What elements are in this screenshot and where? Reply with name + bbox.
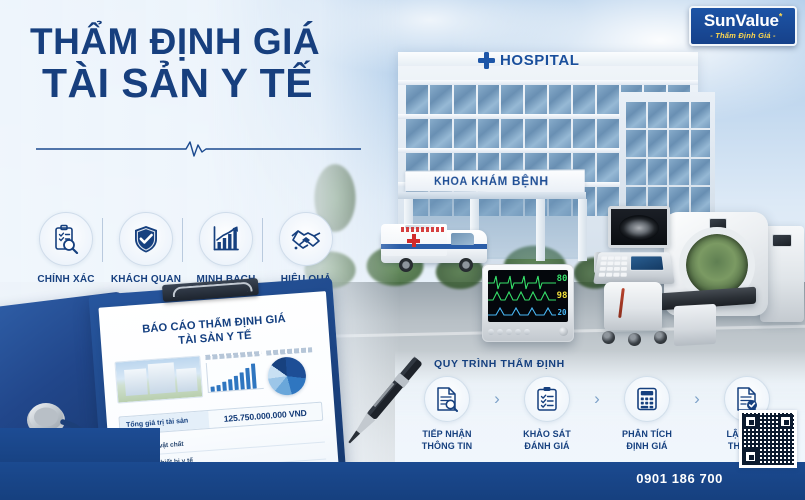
- patient-monitor: 80 98 20: [482, 264, 574, 342]
- shield-check-icon: [131, 224, 161, 254]
- process-step-label: KHẢO SÁT ĐÁNH GIÁ: [523, 429, 571, 453]
- patient-monitor-screen: 80 98 20: [488, 270, 568, 322]
- monitor-spo2-value: 98: [557, 292, 568, 301]
- ultrasound-display: [608, 206, 670, 248]
- contact-phone[interactable]: 0901 186 700: [636, 471, 723, 486]
- bar-chart-growth-icon: [211, 224, 241, 254]
- brand-logo[interactable]: SunValue* - Thẩm Định Giá -: [689, 6, 797, 46]
- feature-chinh-xac[interactable]: CHÍNH XÁC: [26, 212, 106, 285]
- hospital-rooftop-sign: HOSPITAL: [478, 52, 580, 69]
- process-step-label-line-1: TIẾP NHẬN: [422, 429, 472, 441]
- monitor-hr-value: 80: [557, 275, 568, 284]
- department-sign-text: KHOA KHÁM BỆNH: [434, 175, 549, 188]
- document-verified-icon: [734, 386, 760, 412]
- department-sign: KHOA KHÁM BỆNH: [405, 169, 584, 193]
- hospital-sign-text: HOSPITAL: [500, 52, 580, 69]
- process-step-label-line-1: PHÂN TÍCH: [622, 429, 672, 441]
- ultrasound-machine: [586, 206, 678, 346]
- report-pie-chart-caption: [266, 347, 312, 355]
- logo-word-sun: Sun: [704, 11, 736, 30]
- ambulance-red-cross-icon: [407, 234, 420, 247]
- calculator-icon: [634, 386, 660, 412]
- report-bar-chart: [205, 351, 264, 393]
- process-step-label: TIẾP NHẬN THÔNG TIN: [422, 429, 472, 453]
- report-building-photo: [114, 355, 203, 403]
- headline-line-2: TÀI SẢN Y TẾ: [42, 61, 390, 105]
- document-search-icon: [434, 386, 460, 412]
- feature-badges: CHÍNH XÁC KHÁCH QUAN: [26, 212, 376, 285]
- feature-icon-wrap: [279, 212, 333, 266]
- feature-hieu-qua[interactable]: HIỆU QUẢ: [266, 212, 346, 285]
- process-step-khao-sat-danh-gia[interactable]: KHẢO SÁT ĐÁNH GIÁ: [508, 376, 586, 453]
- report-pie-chart: [266, 347, 315, 396]
- monitor-resp-value: 20: [557, 309, 566, 317]
- feature-label: CHÍNH XÁC: [37, 274, 94, 285]
- heartbeat-divider: [36, 140, 361, 158]
- logo-word-value: Value: [735, 11, 778, 30]
- pie-series: [267, 356, 308, 397]
- logo-star-icon: *: [779, 11, 782, 21]
- chevron-right-icon: ›: [586, 376, 608, 422]
- process-step-tiep-nhan-thong-tin[interactable]: TIẾP NHẬN THÔNG TIN: [408, 376, 486, 453]
- report-media-row: [114, 347, 321, 408]
- process-step-label-line-1: KHẢO SÁT: [523, 429, 571, 441]
- bar-series: [206, 359, 264, 393]
- entrance-canopy: [398, 192, 586, 199]
- process-step-icon-wrap: [624, 376, 670, 422]
- poster-canvas: HOSPITAL KHOA KHÁM BỆNH: [0, 0, 805, 500]
- process-step-label-line-2: ĐỊNH GIÁ: [622, 441, 672, 453]
- process-step-icon-wrap: [424, 376, 470, 422]
- qr-code[interactable]: [739, 410, 797, 468]
- feature-minh-bach[interactable]: MINH BẠCH: [186, 212, 266, 285]
- process-step-label-line-2: ĐÁNH GIÁ: [523, 441, 571, 453]
- feature-icon-wrap: [199, 212, 253, 266]
- headline-line-1: THẨM ĐỊNH GIÁ: [30, 22, 390, 61]
- chevron-right-icon: ›: [486, 376, 508, 422]
- clipboard-search-icon: [51, 224, 81, 254]
- feature-icon-wrap: [119, 212, 173, 266]
- ct-scanner: [660, 212, 805, 346]
- report-title: BÁO CÁO THẨM ĐỊNH GIÁ TÀI SẢN Y TẾ: [112, 310, 318, 353]
- handshake-icon: [290, 224, 322, 254]
- process-step-label-line-2: THÔNG TIN: [422, 441, 472, 453]
- qr-code-icon: [742, 413, 794, 465]
- process-step-label: PHÂN TÍCH ĐỊNH GIÁ: [622, 429, 672, 453]
- clipboard-check-icon: [534, 386, 560, 412]
- entrance-pillar: [536, 199, 545, 261]
- report-total-value: 125.750.000.000 VND: [208, 403, 322, 428]
- page-title: THẨM ĐỊNH GIÁ TÀI SẢN Y TẾ: [30, 22, 390, 105]
- feature-icon-wrap: [39, 212, 93, 266]
- process-step-phan-tich-dinh-gia[interactable]: PHÂN TÍCH ĐỊNH GIÁ: [608, 376, 686, 453]
- feature-khach-quan[interactable]: KHÁCH QUAN: [106, 212, 186, 285]
- medical-cross-icon: [478, 52, 495, 69]
- process-title: QUY TRÌNH THẨM ĐỊNH: [434, 358, 803, 370]
- brand-logo-text: SunValue*: [704, 12, 782, 29]
- chevron-right-icon: ›: [686, 376, 708, 422]
- ecg-waveform-icon: [488, 270, 556, 322]
- process-step-icon-wrap: [524, 376, 570, 422]
- brand-logo-tagline: - Thẩm Định Giá -: [710, 31, 775, 40]
